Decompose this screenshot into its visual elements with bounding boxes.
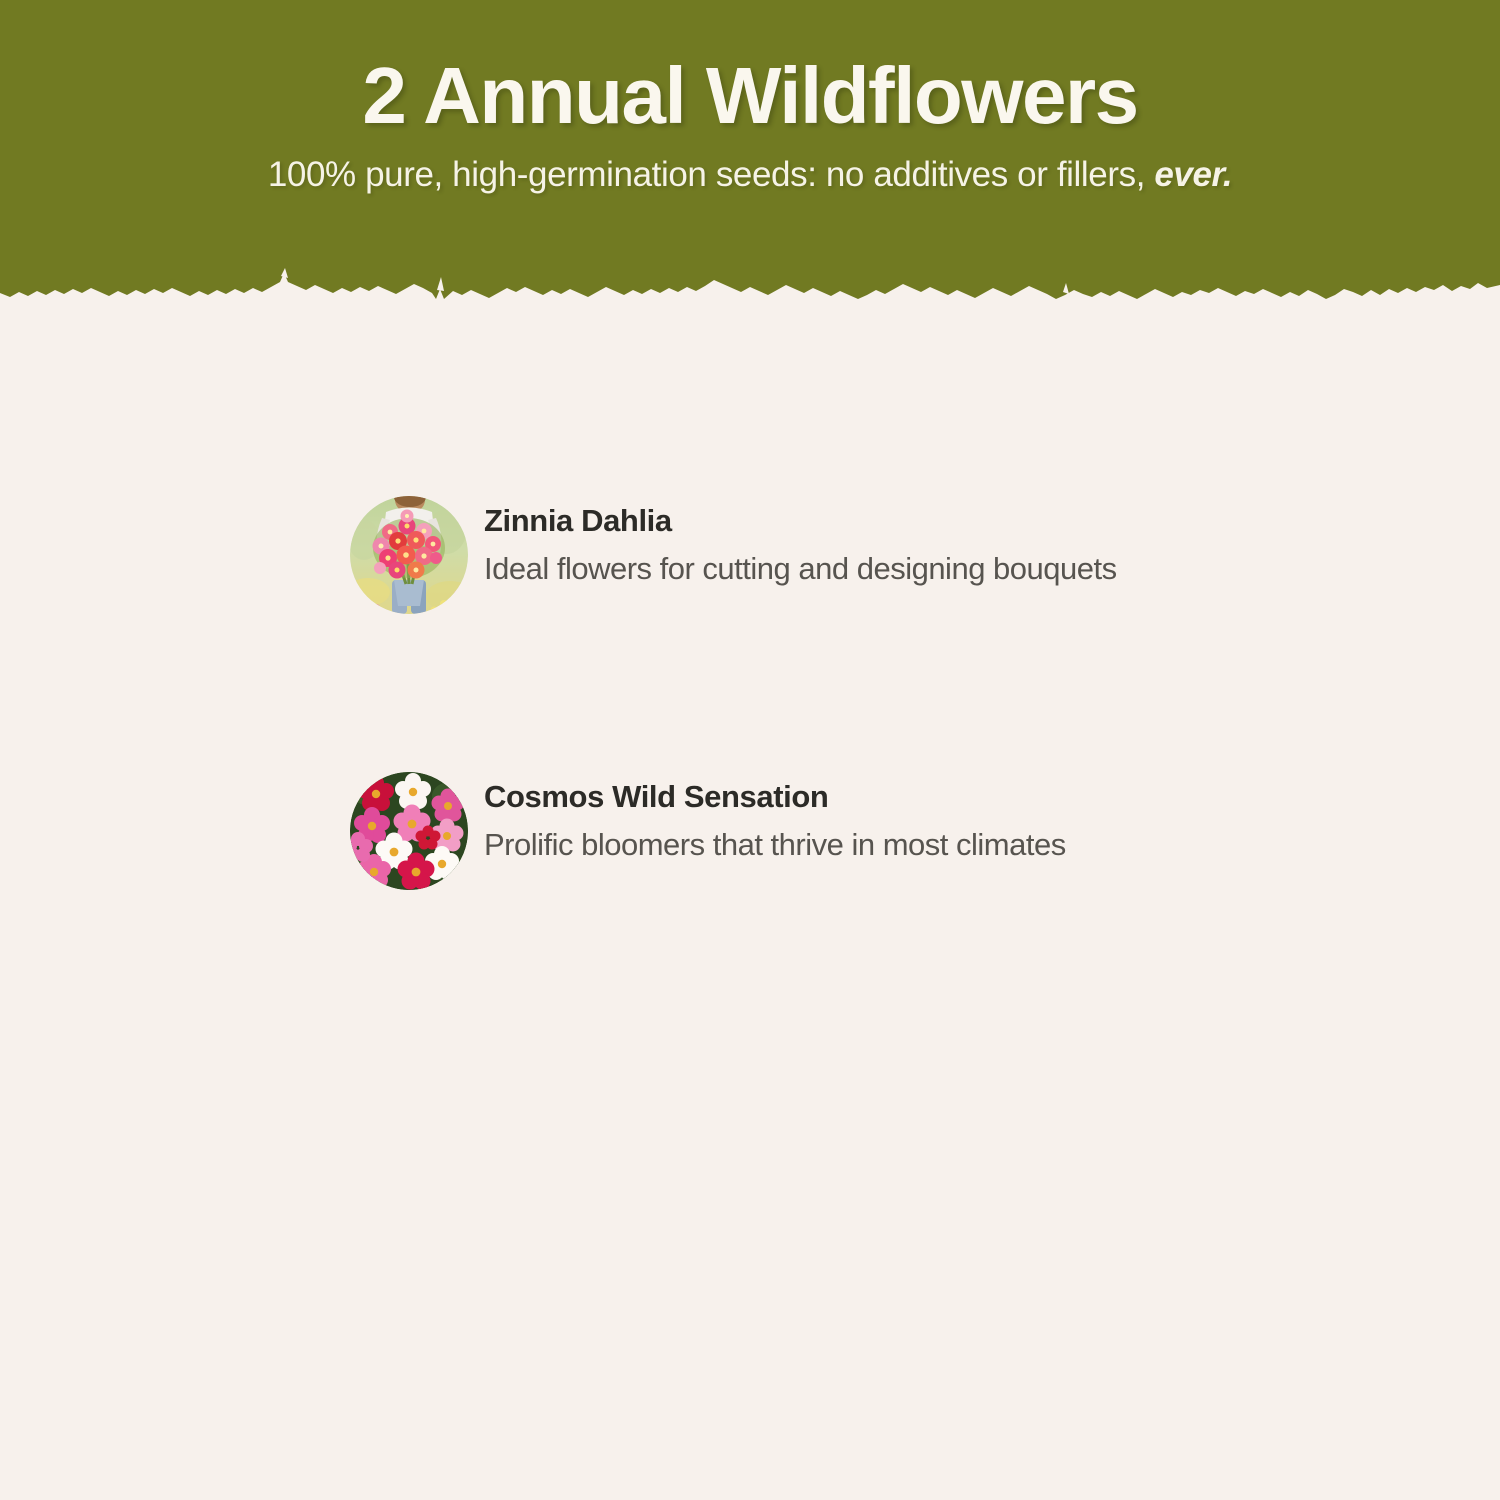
product-feature-card: 2 Annual Wildflowers 100% pure, high-ger… <box>0 0 1500 1500</box>
header-banner: 2 Annual Wildflowers 100% pure, high-ger… <box>0 0 1500 312</box>
cosmos-flowers-illustration <box>350 772 468 890</box>
zinnia-bouquet-illustration <box>350 496 468 614</box>
banner-subtitle-main: 100% pure, high-germination seeds: no ad… <box>268 155 1145 194</box>
cosmos-flowers-photo-icon <box>350 772 468 890</box>
item-text-block: Zinnia Dahlia Ideal flowers for cutting … <box>468 470 1117 589</box>
banner-content: 2 Annual Wildflowers 100% pure, high-ger… <box>0 0 1500 195</box>
banner-subtitle: 100% pure, high-germination seeds: no ad… <box>0 156 1500 195</box>
torn-paper-edge-icon <box>0 268 1500 312</box>
list-item[interactable]: Cosmos Wild Sensation Prolific bloomers … <box>0 746 1500 890</box>
item-title: Zinnia Dahlia <box>484 502 1117 541</box>
page-title: 2 Annual Wildflowers <box>0 56 1500 136</box>
item-title: Cosmos Wild Sensation <box>484 778 1066 817</box>
item-description: Prolific bloomers that thrive in most cl… <box>484 825 1066 865</box>
zinnia-bouquet-photo-icon <box>350 496 468 614</box>
item-text-block: Cosmos Wild Sensation Prolific bloomers … <box>468 746 1066 865</box>
feature-list: Zinnia Dahlia Ideal flowers for cutting … <box>0 470 1500 1022</box>
list-item[interactable]: Zinnia Dahlia Ideal flowers for cutting … <box>0 470 1500 614</box>
item-description: Ideal flowers for cutting and designing … <box>484 549 1117 589</box>
banner-subtitle-emphasis: ever. <box>1154 155 1232 194</box>
